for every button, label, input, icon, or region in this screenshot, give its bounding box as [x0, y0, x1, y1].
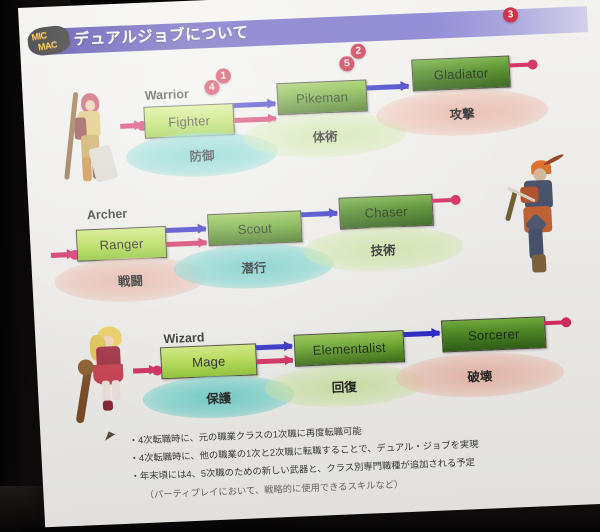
projection-screen: デュアルジョブについて MIC MAC Warrior	[18, 0, 600, 527]
chaser-exit-pin	[432, 198, 456, 203]
class-label-archer: Archer	[87, 207, 128, 223]
job-node-label: Chaser	[364, 203, 408, 220]
wizard-character-sprite	[75, 325, 142, 431]
job-node-label: Mage	[192, 353, 226, 369]
badge-4: 4	[204, 80, 220, 96]
skill-label: 回復	[331, 376, 357, 396]
skill-ellipse-hakai: 破壊	[395, 349, 565, 400]
skill-label: 防御	[189, 144, 215, 164]
skill-ellipse-kougeki: 攻撃	[375, 86, 549, 139]
skill-label: 破壊	[467, 365, 493, 385]
arrow-ranger-to-scout-blue	[166, 226, 206, 233]
sorcerer-exit-pin	[544, 320, 566, 325]
job-node-label: Gladiator	[433, 65, 488, 82]
job-node-gladiator[interactable]: Gladiator	[411, 55, 511, 91]
job-node-label: Pikeman	[296, 89, 349, 106]
archer-character-sprite	[499, 157, 575, 276]
arrow-mage-to-elementalist-blue	[256, 344, 292, 351]
badge-1: 1	[215, 68, 231, 84]
arrow-pikeman-to-gladiator	[367, 84, 409, 91]
job-node-label: Ranger	[99, 235, 144, 252]
warrior-character-sprite	[58, 90, 119, 188]
skill-label: 攻撃	[449, 102, 475, 122]
skill-label: 戦闘	[117, 270, 143, 290]
job-node-elementalist[interactable]: Elementalist	[293, 330, 405, 367]
job-node-label: Elementalist	[312, 339, 386, 357]
skill-label: 潜行	[241, 256, 267, 276]
class-label-warrior: Warrior	[144, 87, 189, 103]
badge-2: 2	[350, 43, 366, 59]
photo-of-projected-slide: デュアルジョブについて MIC MAC Warrior	[0, 0, 600, 532]
skill-ellipse-gijutsu: 技術	[302, 224, 464, 275]
archer-entry-arrow	[51, 252, 75, 258]
job-node-mage[interactable]: Mage	[160, 343, 258, 379]
gladiator-exit-pin	[509, 62, 533, 67]
notes-list: ・4次転職時に、元の職業クラスの1次職に再度転職可能 ・4次転職時に、他の職業の…	[129, 416, 600, 508]
job-node-chaser[interactable]: Chaser	[338, 194, 434, 230]
arrow-scout-to-chaser	[301, 211, 337, 218]
job-node-pikeman[interactable]: Pikeman	[276, 79, 368, 115]
slide-canvas: デュアルジョブについて MIC MAC Warrior	[18, 0, 600, 527]
mic-mac-logo: MIC MAC	[25, 23, 73, 59]
job-node-sorcerer[interactable]: Sorcerer	[441, 316, 547, 352]
skill-label: 保護	[206, 387, 232, 407]
badge-5: 5	[339, 56, 355, 72]
arrow-ranger-to-scout-red	[166, 240, 206, 247]
job-node-scout[interactable]: Scout	[207, 210, 303, 246]
wizard-entry-arrow	[133, 367, 157, 373]
job-node-label: Fighter	[168, 113, 211, 130]
job-node-label: Scout	[237, 220, 272, 236]
class-label-wizard: Wizard	[163, 330, 205, 346]
warrior-entry-arrow	[120, 123, 142, 129]
arrow-mage-to-elementalist-red	[257, 358, 293, 365]
mouse-cursor	[105, 432, 115, 444]
job-node-ranger[interactable]: Ranger	[76, 226, 168, 262]
arrow-fighter-to-pikeman-blue	[233, 101, 275, 108]
arrow-elementalist-to-sorcerer	[403, 331, 439, 338]
job-node-label: Sorcerer	[468, 326, 520, 343]
skill-label: 体術	[312, 125, 338, 145]
skill-label: 技術	[370, 239, 396, 259]
